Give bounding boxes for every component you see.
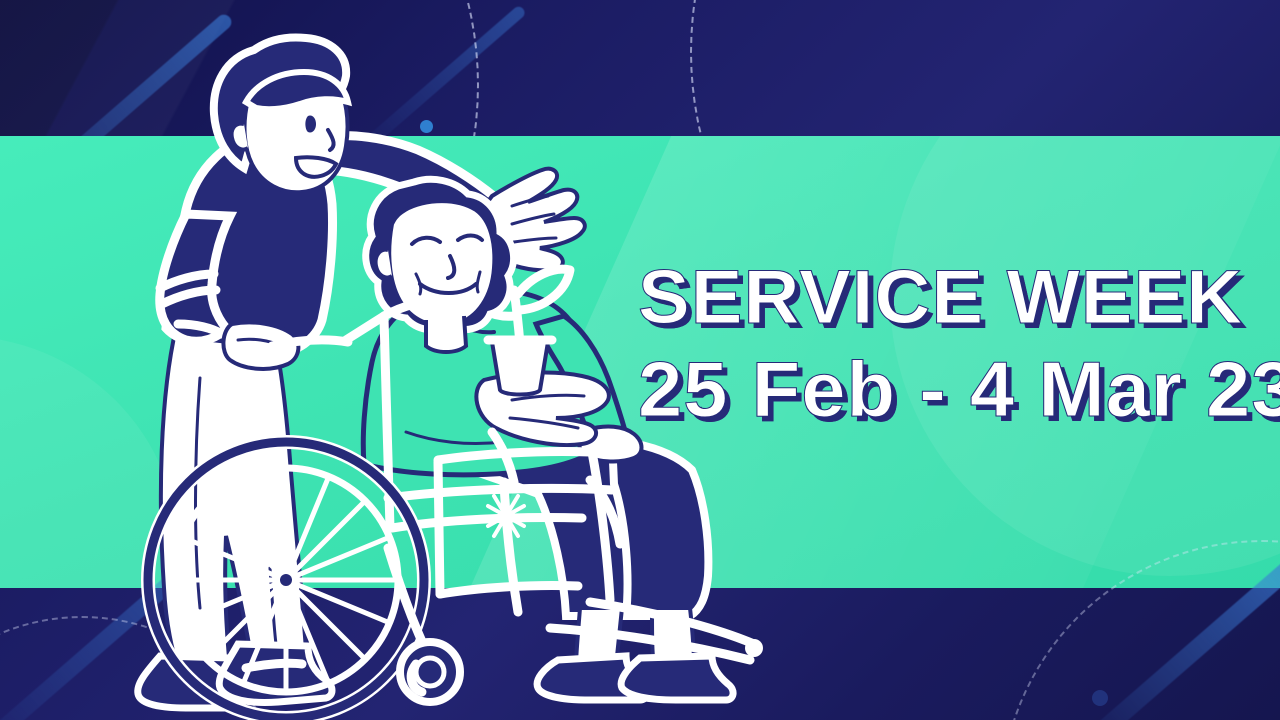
page-title-line-2: 25 Feb - 4 Mar 23: [638, 352, 1280, 427]
page-title-line-1: SERVICE WEEK: [638, 262, 1243, 335]
poster-canvas: .ink{fill:#262a78;} .wht{fill:#ffffff;} …: [0, 0, 1280, 720]
user-shoes: [537, 656, 733, 700]
